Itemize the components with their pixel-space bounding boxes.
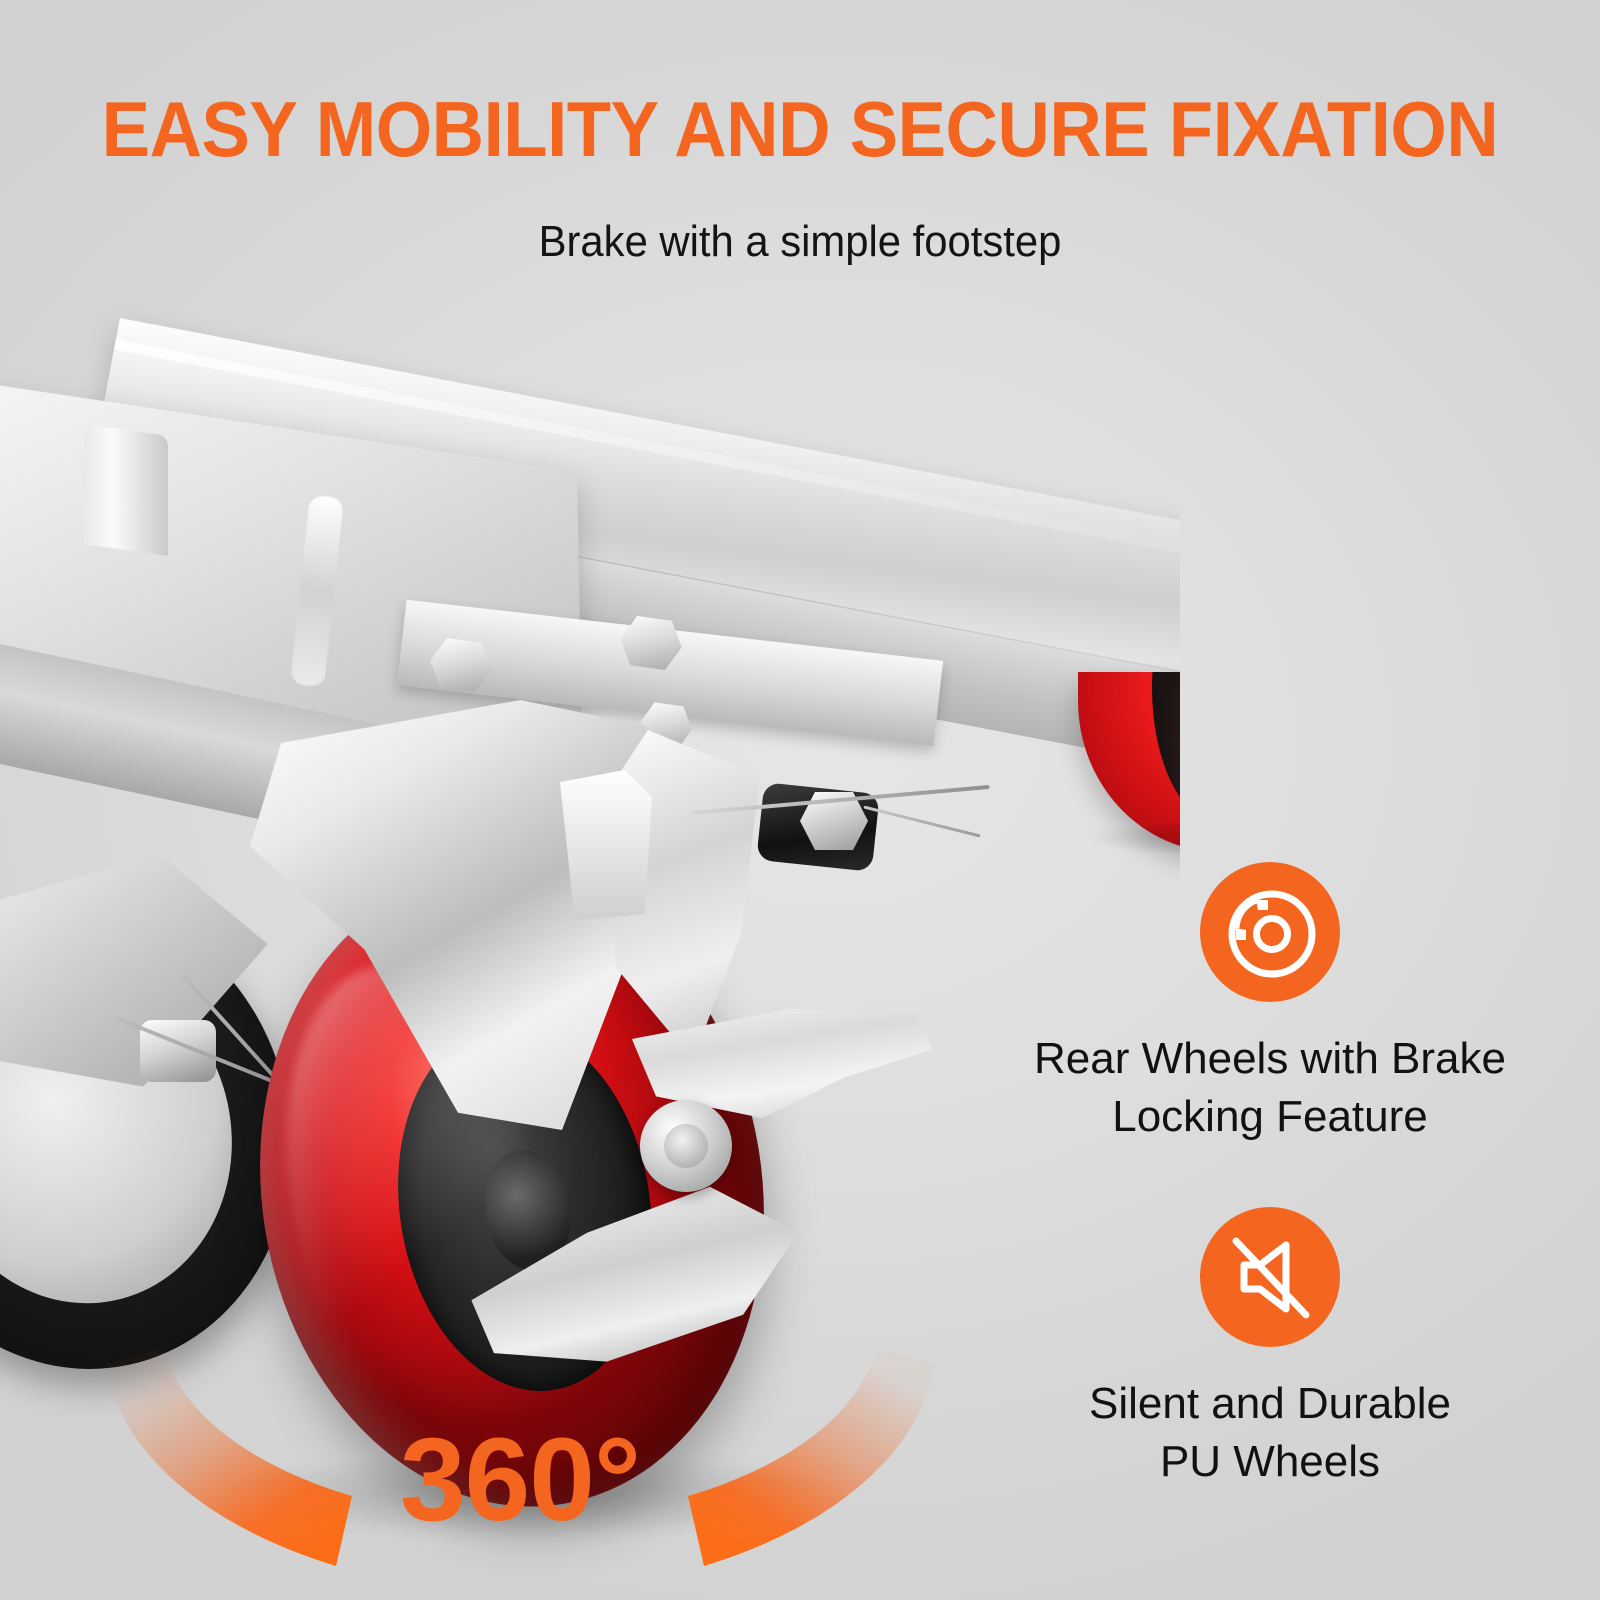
feature-silent-wheels-label: Silent and Durable PU Wheels xyxy=(960,1375,1580,1491)
muted-speaker-icon xyxy=(1200,1207,1340,1347)
feature-brake-lock: Rear Wheels with Brake Locking Feature xyxy=(960,862,1580,1146)
page-title: EASY MOBILITY AND SECURE FIXATION xyxy=(56,86,1544,172)
product-feature-banner: EASY MOBILITY AND SECURE FIXATION Brake … xyxy=(0,0,1600,1600)
feature-label-line: Locking Feature xyxy=(960,1088,1580,1146)
brake-disc-glyph xyxy=(1200,862,1340,1002)
feature-label-line: Silent and Durable xyxy=(960,1375,1580,1433)
page-subtitle: Brake with a simple footstep xyxy=(40,214,1560,270)
contact-shadow xyxy=(1088,820,1180,856)
brake-pivot-bolt xyxy=(640,1100,732,1192)
feature-silent-wheels: Silent and Durable PU Wheels xyxy=(960,1207,1580,1491)
feature-label-line: Rear Wheels with Brake xyxy=(960,1030,1580,1088)
cotter-pin xyxy=(863,806,980,838)
rotation-label: 360° xyxy=(90,1418,950,1542)
deck-corner-post xyxy=(84,424,168,556)
swivel-fork-tab xyxy=(560,770,652,920)
feature-brake-lock-label: Rear Wheels with Brake Locking Feature xyxy=(960,1030,1580,1146)
rotation-badge: 360° xyxy=(90,1290,950,1590)
feature-label-line: PU Wheels xyxy=(960,1433,1580,1491)
muted-speaker-glyph xyxy=(1200,1207,1340,1347)
brake-disc-icon xyxy=(1200,862,1340,1002)
